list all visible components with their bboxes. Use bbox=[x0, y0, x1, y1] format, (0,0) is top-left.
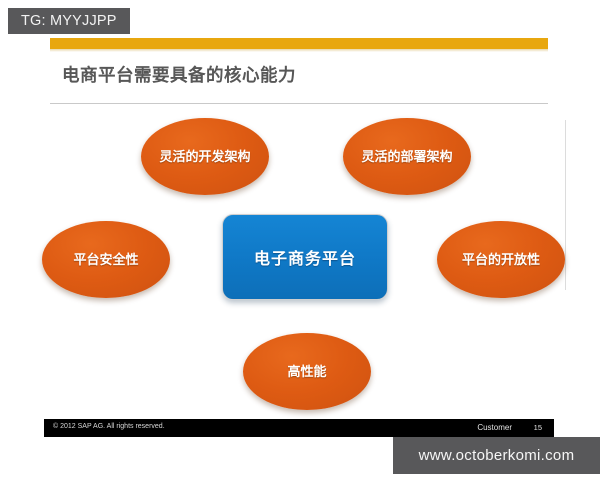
site-watermark: www.octoberkomi.com bbox=[393, 437, 600, 474]
diagram-node-security: 平台安全性 bbox=[42, 221, 170, 298]
footer-page-number: 15 bbox=[534, 423, 542, 432]
diagram-node-label: 灵活的开发架构 bbox=[153, 148, 256, 165]
footer-audience: Customer bbox=[477, 423, 512, 432]
accent-bar-shadow bbox=[50, 49, 548, 52]
accent-bar bbox=[50, 38, 548, 49]
diagram-node-dev-arch: 灵活的开发架构 bbox=[141, 118, 269, 195]
diagram-node-label: 高性能 bbox=[281, 363, 332, 380]
diagram-node-deploy-arch: 灵活的部署架构 bbox=[343, 118, 471, 195]
diagram-node-label: 平台的开放性 bbox=[456, 251, 546, 268]
diagram-node-performance: 高性能 bbox=[243, 333, 371, 410]
diagram-center-label: 电子商务平台 bbox=[254, 245, 356, 269]
slide-title: 电商平台需要具备的核心能力 bbox=[62, 62, 296, 87]
source-tag-badge: TG: MYYJJPP bbox=[8, 8, 130, 34]
diagram-node-label: 平台安全性 bbox=[67, 251, 144, 268]
slide-footer: © 2012 SAP AG. All rights reserved. Cust… bbox=[44, 419, 554, 437]
diagram-center-node: 电子商务平台 bbox=[222, 214, 388, 300]
diagram-node-label: 灵活的部署架构 bbox=[355, 148, 458, 165]
footer-copyright: © 2012 SAP AG. All rights reserved. bbox=[53, 423, 165, 430]
slide-canvas: 电商平台需要具备的核心能力 灵活的开发架构 灵活的部署架构 平台安全性 平台的开… bbox=[0, 0, 600, 480]
diagram-node-openness: 平台的开放性 bbox=[437, 221, 565, 298]
capability-diagram: 灵活的开发架构 灵活的部署架构 平台安全性 平台的开放性 高性能 电子商务平台 bbox=[0, 104, 600, 414]
